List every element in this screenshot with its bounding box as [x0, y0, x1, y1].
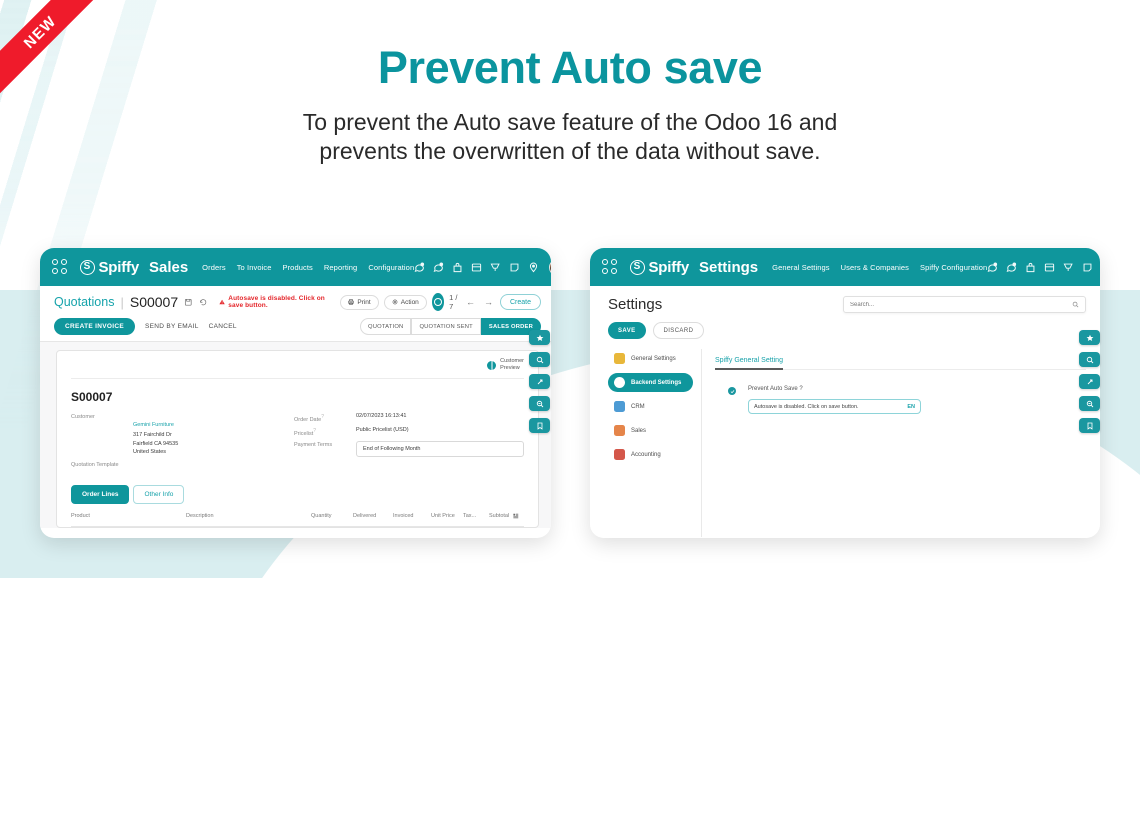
zoom-icon[interactable]	[529, 396, 550, 411]
search-icon[interactable]	[529, 352, 550, 367]
cart-icon[interactable]	[1063, 262, 1074, 273]
brand-logo[interactable]: S Spiffy	[80, 259, 139, 276]
smart-button-row: Customer Preview	[71, 358, 524, 379]
pricelist-value[interactable]: Public Pricelist (USD)	[356, 427, 409, 433]
form-fields: Customer Gemini Furniture 317 Fairchild …	[71, 413, 524, 472]
pager-next-icon[interactable]: →	[482, 297, 495, 307]
nav-item-reporting[interactable]: Reporting	[324, 263, 357, 272]
prevent-auto-save-label: Prevent Auto Save ?	[748, 386, 921, 392]
bag-icon[interactable]	[1025, 262, 1036, 273]
bookmark-icon[interactable]	[529, 418, 550, 433]
field-payment-terms: Payment Terms	[294, 441, 524, 457]
left-navbar-icons	[414, 259, 551, 276]
language-badge[interactable]: EN	[907, 404, 915, 410]
breadcrumb-separator: |	[120, 295, 123, 310]
globe-icon	[487, 361, 496, 370]
payment-terms-input[interactable]	[356, 441, 524, 457]
nav-item-products[interactable]: Products	[282, 263, 312, 272]
customer-value[interactable]: Gemini Furniture	[133, 422, 174, 428]
pager-count: 1 / 7	[449, 293, 459, 311]
nav-item-orders[interactable]: Orders	[202, 263, 226, 272]
bookmark-icon[interactable]	[1079, 418, 1100, 433]
settings-content: Spiffy General Setting Prevent Auto Save…	[702, 349, 1086, 537]
sidebar-item-backend-settings[interactable]: Backend Settings	[608, 373, 693, 392]
column-subtotal: Subtotal	[489, 513, 509, 519]
field-order-date: Order Date? 02/07/2023 16:13:41	[294, 413, 524, 423]
sidebar-item-sales[interactable]: Sales	[608, 421, 693, 440]
warning-triangle-icon	[219, 298, 225, 306]
settings-body: Settings SAVE DISCARD General Settings B…	[590, 286, 1100, 538]
left-control-panel: Quotations | S00007 Autosave is disabled…	[40, 286, 551, 342]
crm-icon	[614, 401, 625, 412]
star-icon[interactable]	[1079, 330, 1100, 345]
subtitle-line-1: To prevent the Auto save feature of the …	[0, 108, 1140, 137]
chat-bubble-icon[interactable]	[414, 262, 425, 273]
right-nav-menu: General Settings Users & Companies Spiff…	[772, 263, 987, 272]
cancel-button[interactable]: CANCEL	[209, 323, 237, 330]
chat-bubble-alt-icon[interactable]	[433, 262, 444, 273]
customer-preview-line1: Customer	[500, 358, 524, 364]
address-line-3: United States	[133, 448, 178, 457]
quotation-template-label: Quotation Template	[71, 461, 133, 468]
content-tab-row: Spiffy General Setting	[715, 349, 1086, 370]
record-title: S00007	[71, 390, 524, 404]
address-line-1: 317 Fairchild Dr	[133, 431, 178, 440]
accounting-icon	[614, 449, 625, 460]
customer-address: 317 Fairchild Dr Fairfield CA 94535 Unit…	[133, 431, 178, 457]
brand-logo[interactable]: S Spiffy	[630, 259, 689, 276]
note-icon[interactable]	[509, 262, 520, 273]
column-quantity: Quantity	[311, 513, 353, 519]
spiffy-mark-icon: S	[80, 260, 95, 275]
column-delivered: Delivered	[353, 513, 393, 519]
left-navbar: S Spiffy Sales Orders To Invoice Product…	[40, 248, 551, 286]
gear-icon	[392, 299, 398, 305]
customer-value-group: Gemini Furniture 317 Fairchild Dr Fairfi…	[133, 413, 178, 457]
discard-button[interactable]: DISCARD	[653, 322, 705, 339]
apps-grid-icon[interactable]	[52, 259, 67, 275]
star-icon[interactable]	[529, 330, 550, 345]
settings-header: Settings	[608, 296, 1086, 313]
sidebar-label: Sales	[631, 428, 646, 434]
brand-name: Spiffy	[649, 259, 689, 276]
subtitle-line-2: prevents the overwritten of the data wit…	[0, 137, 1140, 166]
action-button[interactable]: Action	[384, 295, 427, 310]
save-button[interactable]: SAVE	[608, 322, 646, 339]
customer-preview-button[interactable]: Customer Preview	[487, 358, 524, 372]
sales-quotation-window: S Spiffy Sales Orders To Invoice Product…	[40, 248, 551, 538]
payment-terms-label: Payment Terms	[294, 441, 356, 448]
cart-icon[interactable]	[490, 262, 501, 273]
control-panel-actions: Print Action 1 / 7 ← → Create	[340, 293, 541, 311]
pin-icon[interactable]	[528, 262, 539, 273]
address-line-2: Fairfield CA 94535	[133, 440, 178, 449]
field-quotation-template: Quotation Template	[71, 461, 284, 468]
prevent-auto-save-checkbox[interactable]	[728, 387, 736, 395]
tab-spiffy-general-setting[interactable]: Spiffy General Setting	[715, 357, 783, 370]
right-navbar: S Spiffy Settings General Settings Users…	[590, 248, 1100, 286]
nav-item-configuration[interactable]: Configuration	[368, 263, 414, 272]
notebook-tabs: Order Lines Other Info	[71, 485, 524, 504]
nav-item-to-invoice[interactable]: To Invoice	[237, 263, 272, 272]
left-side-tools	[529, 330, 550, 433]
page-subtitle: To prevent the Auto save feature of the …	[0, 108, 1140, 167]
column-unit-price: Unit Price	[431, 513, 463, 519]
settings-sidebar: General Settings Backend Settings CRM Sa…	[608, 349, 702, 537]
field-customer: Customer Gemini Furniture 317 Fairchild …	[71, 413, 284, 457]
field-pricelist: Pricelist? Public Pricelist (USD)	[294, 427, 524, 437]
sidebar-label: Backend Settings	[631, 380, 681, 386]
pager-previous-icon[interactable]: ←	[464, 297, 477, 307]
column-invoiced: Invoiced	[393, 513, 431, 519]
status-step-quotation[interactable]: QUOTATION	[360, 318, 411, 335]
column-description: Description	[186, 513, 311, 519]
action-label: Action	[401, 299, 419, 306]
breadcrumb-current: S00007	[130, 294, 178, 310]
send-by-email-button[interactable]: SEND BY EMAIL	[145, 323, 199, 330]
expand-icon[interactable]	[529, 374, 550, 389]
tab-order-lines[interactable]: Order Lines	[71, 485, 129, 504]
brand-name: Spiffy	[99, 259, 139, 276]
autosave-message-field[interactable]: EN	[748, 399, 921, 414]
autosave-warning: Autosave is disabled. Click on save butt…	[219, 295, 334, 309]
right-side-tools	[1079, 330, 1100, 433]
form-sheet-wrapper: Customer Preview S00007 Customer Gemini …	[40, 342, 551, 528]
nav-item-spiffy-configuration[interactable]: Spiffy Configuration	[920, 263, 987, 272]
search-icon[interactable]	[1079, 352, 1100, 367]
nav-item-users-companies[interactable]: Users & Companies	[841, 263, 909, 272]
setting-fields: Prevent Auto Save ? EN	[748, 386, 921, 414]
app-name-label: Sales	[149, 259, 188, 276]
status-bar: QUOTATION QUOTATION SENT SALES ORDER	[360, 318, 541, 335]
nav-item-general-settings[interactable]: General Settings	[772, 263, 829, 272]
prevent-auto-save-setting: Prevent Auto Save ? EN	[715, 386, 1086, 414]
backend-settings-icon	[614, 377, 625, 388]
grid-icon[interactable]	[471, 262, 482, 273]
page-title: Prevent Auto save	[0, 42, 1140, 94]
avatar[interactable]	[549, 259, 551, 276]
column-tax: Tax...	[463, 513, 489, 519]
general-settings-icon	[614, 353, 625, 364]
order-lines-header: Product Description Quantity Delivered I…	[71, 504, 524, 527]
apps-grid-icon[interactable]	[602, 259, 617, 275]
autosave-warning-text: Autosave is disabled. Click on save butt…	[228, 295, 334, 309]
expand-icon[interactable]	[1079, 374, 1100, 389]
right-navbar-icons	[987, 259, 1100, 276]
create-button[interactable]: Create	[500, 294, 541, 310]
settings-window: S Spiffy Settings General Settings Users…	[590, 248, 1100, 538]
sidebar-label: Accounting	[631, 452, 661, 458]
search-box[interactable]	[843, 296, 1086, 313]
sales-icon	[614, 425, 625, 436]
left-nav-menu: Orders To Invoice Products Reporting Con…	[202, 263, 414, 272]
note-icon[interactable]	[1082, 262, 1093, 273]
customer-preview-label: Customer Preview	[500, 358, 524, 372]
bag-icon[interactable]	[452, 262, 463, 273]
search-input[interactable]	[850, 302, 1072, 308]
column-options-icon[interactable]	[513, 513, 519, 519]
sidebar-item-crm[interactable]: CRM	[608, 397, 693, 416]
print-label: Print	[357, 299, 370, 306]
create-invoice-button[interactable]: CREATE INVOICE	[54, 318, 135, 335]
column-product: Product	[71, 513, 186, 519]
print-icon	[348, 299, 354, 305]
form-column-right: Order Date? 02/07/2023 16:13:41 Pricelis…	[284, 413, 524, 472]
grid-icon[interactable]	[1044, 262, 1055, 273]
chat-bubble-alt-icon[interactable]	[1006, 262, 1017, 273]
form-sheet: Customer Preview S00007 Customer Gemini …	[56, 350, 539, 528]
customer-preview-line2: Preview	[500, 365, 520, 371]
print-button[interactable]: Print	[340, 295, 378, 310]
sidebar-item-accounting[interactable]: Accounting	[608, 445, 693, 464]
sidebar-label: CRM	[631, 404, 645, 410]
order-date-label: Order Date?	[294, 413, 356, 423]
breadcrumb-root[interactable]: Quotations	[54, 295, 114, 309]
sidebar-item-general-settings[interactable]: General Settings	[608, 349, 693, 368]
chat-bubble-icon[interactable]	[987, 262, 998, 273]
zoom-icon[interactable]	[1079, 396, 1100, 411]
record-toggle-button[interactable]	[432, 293, 444, 311]
autosave-message-input[interactable]	[754, 404, 907, 410]
status-step-quotation-sent[interactable]: QUOTATION SENT	[411, 318, 480, 335]
breadcrumb-row: Quotations | S00007 Autosave is disabled…	[54, 293, 541, 311]
tab-other-info[interactable]: Other Info	[133, 485, 184, 504]
settings-page-title: Settings	[608, 296, 662, 313]
discard-icon[interactable]	[199, 297, 208, 308]
sidebar-label: General Settings	[631, 356, 676, 362]
customer-label: Customer	[71, 413, 133, 420]
order-date-value[interactable]: 02/07/2023 16:13:41	[356, 413, 406, 419]
form-column-left: Customer Gemini Furniture 317 Fairchild …	[71, 413, 284, 472]
spiffy-mark-icon: S	[630, 260, 645, 275]
record-button-row: CREATE INVOICE SEND BY EMAIL CANCEL QUOT…	[54, 318, 541, 341]
search-icon[interactable]	[1072, 301, 1079, 308]
save-icon[interactable]	[184, 297, 193, 308]
app-name-label: Settings	[699, 259, 758, 276]
hero-section: Prevent Auto save To prevent the Auto sa…	[0, 0, 1140, 167]
pricelist-label: Pricelist?	[294, 427, 356, 437]
settings-action-buttons: SAVE DISCARD	[608, 322, 1086, 339]
settings-main: General Settings Backend Settings CRM Sa…	[608, 349, 1086, 537]
